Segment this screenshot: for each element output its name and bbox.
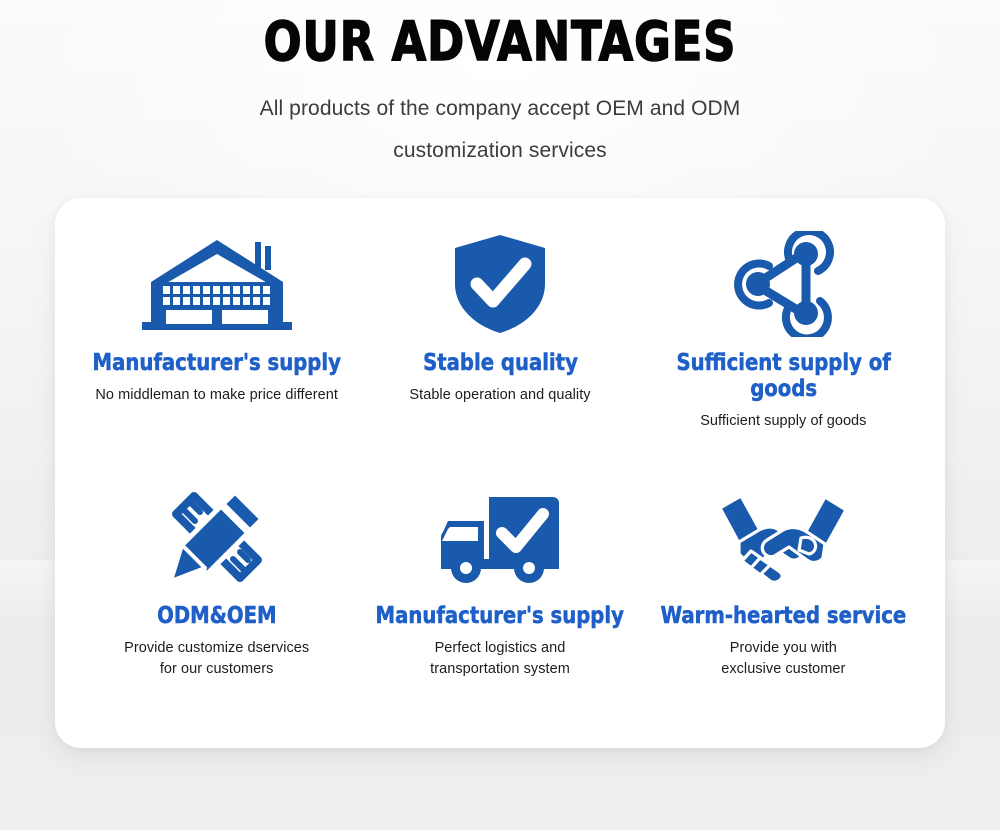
feature-desc-line-2: transportation system (430, 659, 570, 680)
feature-desc-line-1: No middleman to make price different (95, 385, 338, 406)
feature-item-odm-oem[interactable]: ODM&OEM Provide customize dservices for … (75, 471, 358, 726)
delivery-truck-check-icon (436, 485, 564, 589)
subtitle-line-2: customization services (0, 130, 1000, 172)
page-title: OUR ADVANTAGES (40, 12, 960, 72)
feature-title: Stable quality (423, 350, 578, 376)
feature-description: Sufficient supply of goods (700, 411, 866, 432)
subtitle-line-1: All products of the company accept OEM a… (0, 88, 1000, 130)
feature-description: Stable operation and quality (409, 385, 590, 406)
shield-check-icon (450, 232, 550, 336)
feature-desc-line-1: Provide customize dservices (124, 638, 309, 659)
share-network-icon (728, 232, 838, 336)
feature-item-sufficient-supply[interactable]: Sufficient supply of goods Sufficient su… (642, 216, 925, 471)
feature-title: Warm-hearted service (660, 603, 906, 629)
feature-description: Provide customize dservices for our cust… (124, 638, 309, 680)
feature-item-manufacturers-supply[interactable]: Manufacturer's supply No middleman to ma… (75, 216, 358, 471)
advantages-card: Manufacturer's supply No middleman to ma… (55, 198, 945, 748)
feature-desc-line-1: Sufficient supply of goods (700, 411, 866, 432)
feature-description: Provide you with exclusive customer (721, 638, 845, 680)
feature-desc-line-2: for our customers (124, 659, 309, 680)
feature-title: ODM&OEM (157, 603, 276, 629)
page-subtitle: All products of the company accept OEM a… (0, 88, 1000, 172)
feature-desc-line-1: Provide you with (721, 638, 845, 659)
feature-title: Manufacturer's supply (376, 603, 624, 629)
page-header: OUR ADVANTAGES All products of the compa… (0, 0, 1000, 172)
feature-title: Manufacturer's supply (92, 350, 340, 376)
feature-desc-line-2: exclusive customer (721, 659, 845, 680)
feature-description: No middleman to make price different (95, 385, 338, 406)
feature-item-stable-quality[interactable]: Stable quality Stable operation and qual… (358, 216, 641, 471)
handshake-icon (715, 485, 851, 589)
feature-description: Perfect logistics and transportation sys… (430, 638, 570, 680)
advantages-grid: Manufacturer's supply No middleman to ma… (75, 216, 925, 726)
pencil-ruler-icon (161, 485, 273, 589)
feature-desc-line-1: Stable operation and quality (409, 385, 590, 406)
feature-desc-line-1: Perfect logistics and (430, 638, 570, 659)
feature-item-logistics[interactable]: Manufacturer's supply Perfect logistics … (358, 471, 641, 726)
feature-item-warm-hearted-service[interactable]: Warm-hearted service Provide you with ex… (642, 471, 925, 726)
factory-icon (142, 232, 292, 336)
feature-title: Sufficient supply of goods (649, 350, 918, 402)
